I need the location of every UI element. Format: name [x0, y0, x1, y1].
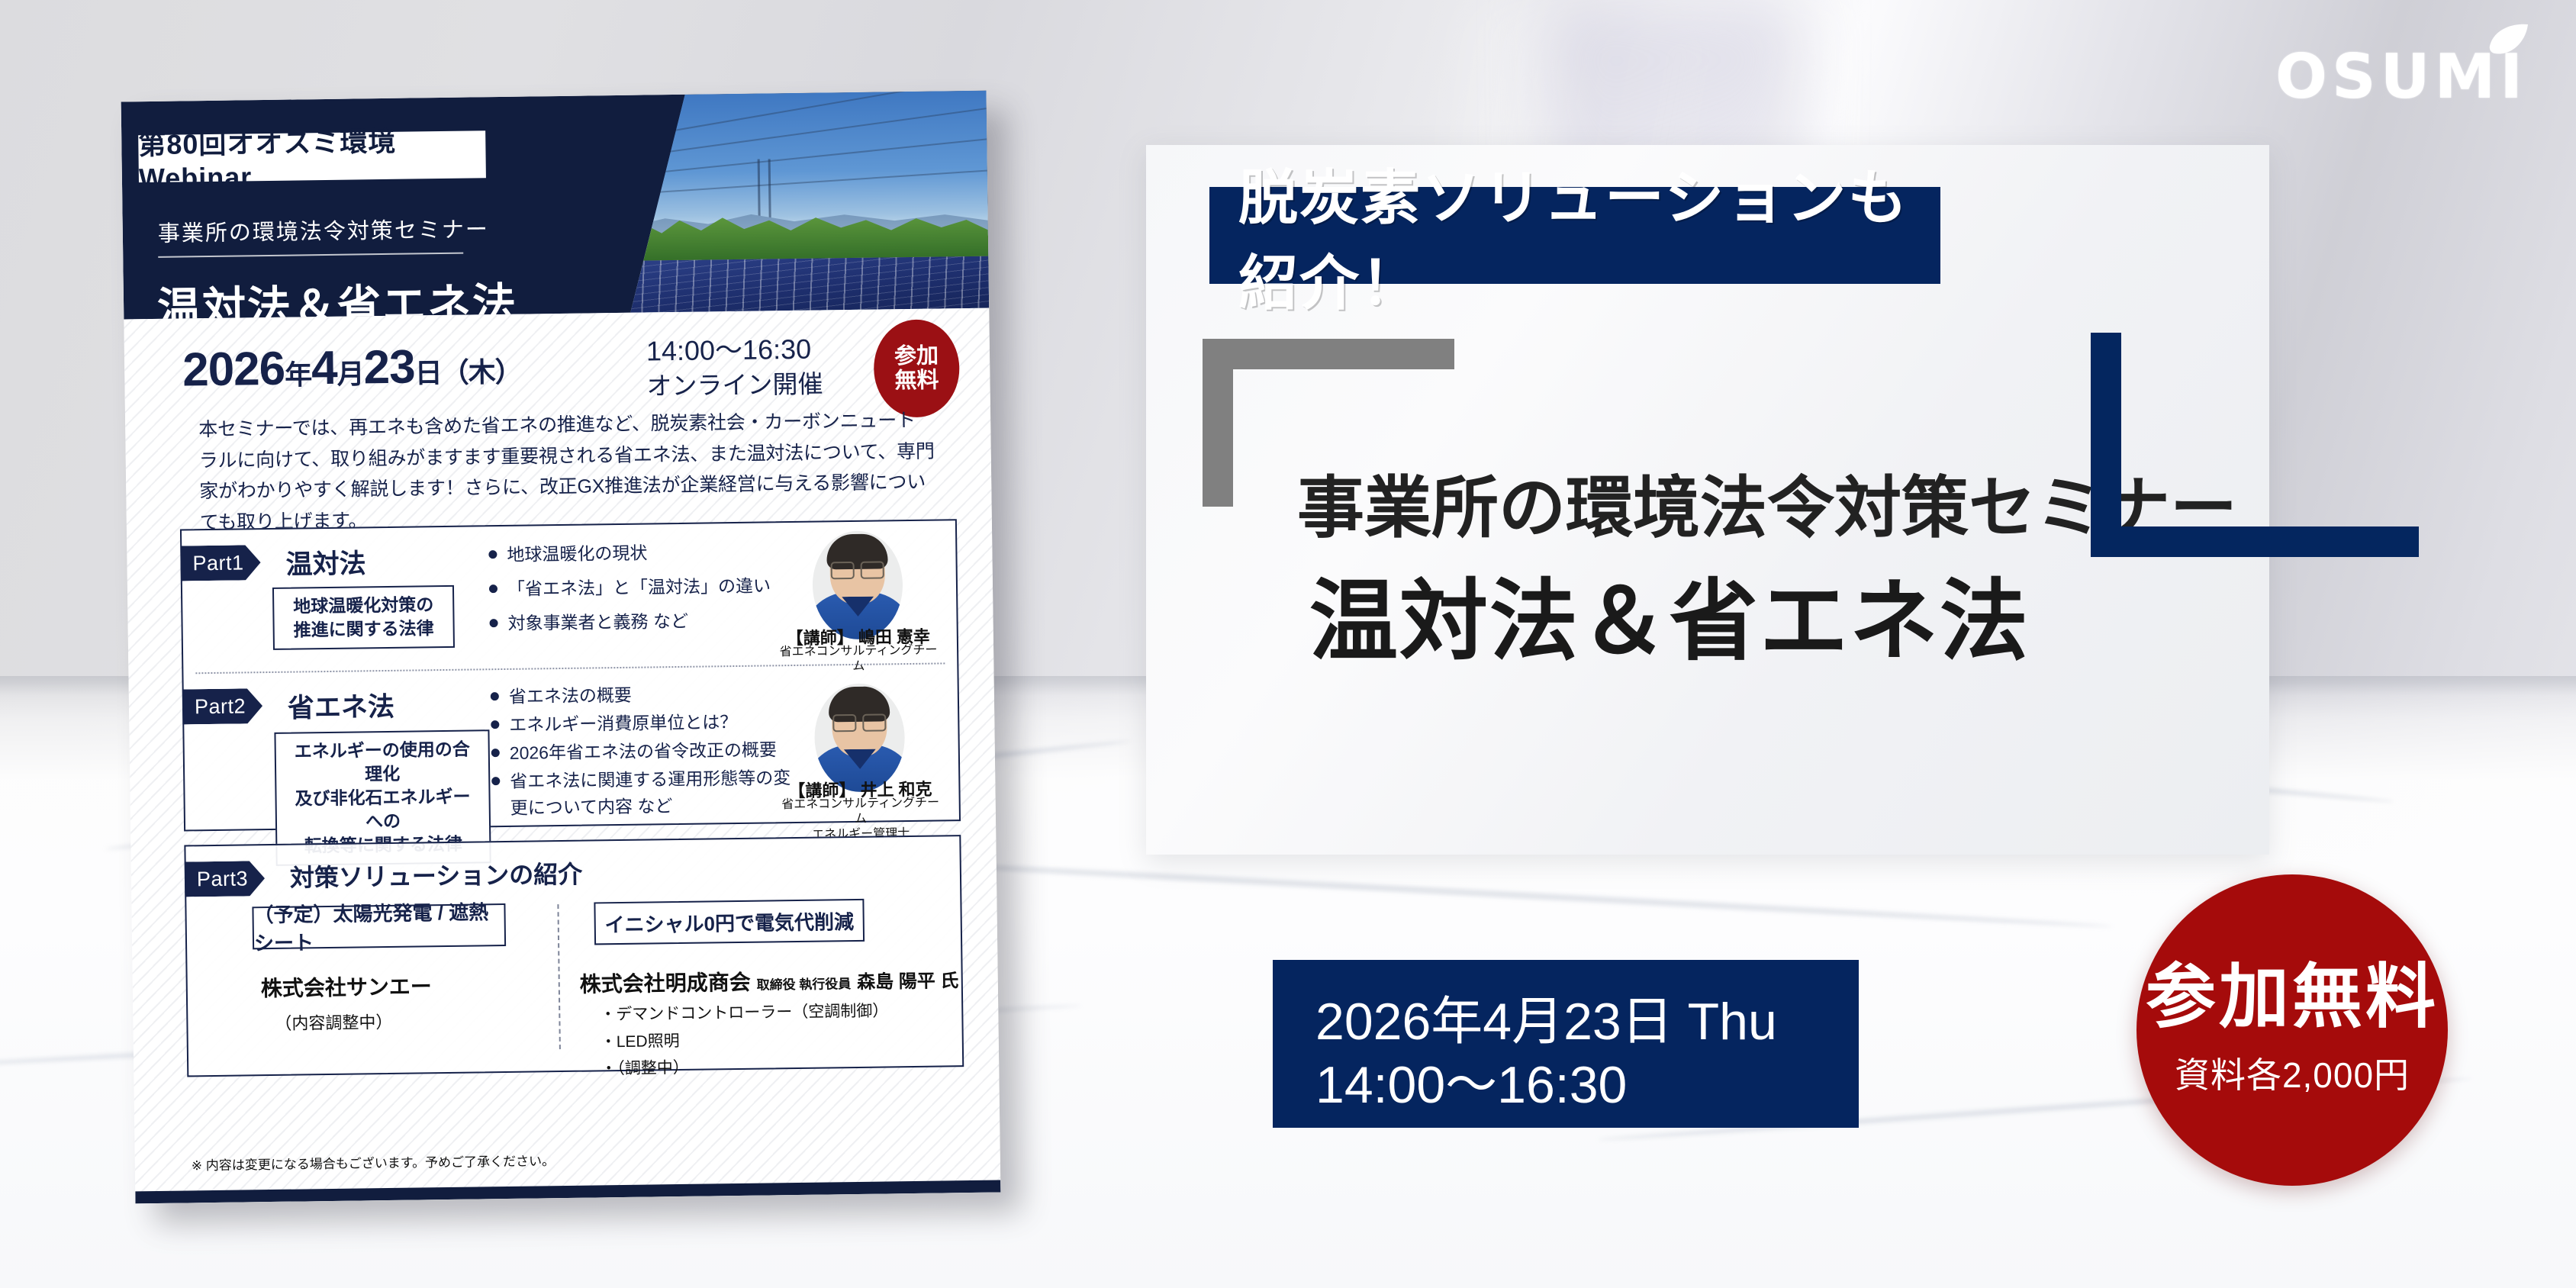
flyer-part3-card: Part3 対策ソリューションの紹介 （予定）太陽光発電 / 遮熱シート 株式会…: [184, 835, 964, 1077]
part3-item: （調整中）: [601, 1052, 889, 1084]
part3-item: デマンドコントローラー（空調制御）: [600, 997, 888, 1029]
speaker-glasses-icon: [832, 713, 886, 729]
part2-bullet: エネルギー消費原単位とは？: [489, 708, 794, 739]
flyer-parts-card: Part1 温対法 地球温暖化対策の 推進に関する法律 地球温暖化の現状 「省エ…: [180, 519, 961, 831]
date-year: 2026: [182, 343, 285, 397]
part3-right-person-name: 森島 陽平 氏: [857, 971, 959, 993]
part1-bullets: 地球温暖化の現状 「省エネ法」と「温対法」の違い 対象事業者と義務 など: [487, 538, 778, 645]
speaker-glasses-icon: [831, 561, 884, 577]
free-badge-line1: 参加: [894, 343, 939, 369]
seminar-flyer-card: 第80回オオスミ環境Webinar 事業所の環境法令対策セミナー 温対法＆省エネ…: [121, 91, 1001, 1204]
part2-heading: 省エネ法: [288, 685, 395, 726]
flyer-hero: 第80回オオスミ環境Webinar 事業所の環境法令対策セミナー 温対法＆省エネ…: [121, 91, 990, 320]
part3-left-box: （予定）太陽光発電 / 遮熱シート: [252, 903, 506, 949]
part1-heading: 温対法: [285, 542, 366, 581]
promo-ribbon-label: 脱炭素ソリューションも紹介！: [1238, 150, 1940, 321]
part2-bullet: 省エネ法の概要: [489, 680, 794, 710]
part3-right-company: 株式会社明成商会 取締役 執行役員 森島 陽平 氏: [580, 963, 959, 998]
part1-bullet: 「省エネ法」と「温対法」の違い: [488, 572, 778, 603]
part2-bullets: 省エネ法の概要 エネルギー消費原単位とは？ 2026年省エネ法の省令改正の概要 …: [489, 680, 796, 823]
part3-right-person-role: 取締役 執行役員: [756, 977, 851, 993]
promo-ribbon: 脱炭素ソリューションも紹介！: [1209, 187, 1940, 284]
photo-solar-panels: [630, 256, 989, 313]
flyer-free-badge: 参加 無料: [873, 319, 960, 417]
date-dow: （木）: [441, 356, 522, 388]
navy-bracket-vertical: [2091, 333, 2121, 557]
part3-right-items: デマンドコントローラー（空調制御） LED照明 （調整中）: [600, 997, 889, 1083]
date-day: 23: [363, 340, 415, 394]
flyer-subtitle: 事業所の環境法令対策セミナー: [158, 211, 490, 248]
part2-bullet: 省エネ法に関連する運用形態等の変更について内容 など: [490, 765, 796, 822]
flyer-rule: [158, 253, 463, 258]
flyer-footnote: ※ 内容は変更になる場合もございます。予めご了承ください。: [192, 1150, 555, 1174]
flyer-date: 2026年4月23日（木）: [182, 339, 522, 398]
part3-left-note: （内容調整中）: [275, 1009, 392, 1035]
part3-left-company: 株式会社サンエー: [261, 970, 433, 1003]
promo-free-label: 参加無料: [2146, 962, 2439, 1032]
date-day-unit: 日: [414, 357, 442, 388]
part3-right-company-name: 株式会社明成商会: [580, 971, 751, 997]
flyer-body: 2026年4月23日（木） 14:00～16:30 オンライン開催 参加 無料 …: [124, 308, 1000, 1204]
free-badge-line2: 無料: [894, 368, 939, 393]
part1-law-box: 地球温暖化対策の 推進に関する法律: [272, 585, 455, 650]
date-year-unit: 年: [285, 359, 312, 390]
date-month: 4: [311, 342, 337, 394]
part1-bullet: 地球温暖化の現状: [487, 538, 777, 568]
leaf-icon: [2487, 23, 2529, 55]
promo-material-fee: 資料各2,000円: [2175, 1048, 2410, 1098]
part3-heading: 対策ソリューションの紹介: [290, 855, 583, 894]
part2-bullet: 2026年省エネ法の省令改正の概要: [490, 736, 795, 767]
part1-speaker-role: 省エネコンサルティングチーム: [778, 643, 939, 676]
flyer-date-row: 2026年4月23日（木） 14:00～16:30 オンライン開催 参加 無料: [158, 322, 968, 406]
promo-free-badge: 参加無料 資料各2,000円: [2136, 874, 2448, 1186]
promo-title: 温対法＆省エネ法: [1309, 549, 2030, 678]
part1-tag: Part1: [180, 545, 261, 581]
promo-date-line1: 2026年4月23日 Thu: [1315, 990, 1859, 1054]
part2-tag: Part2: [182, 688, 263, 724]
flyer-format: オンライン開催: [646, 363, 823, 402]
flyer-title: 温対法＆省エネ法: [157, 269, 518, 320]
flyer-time: 14:00～16:30: [646, 327, 812, 369]
promo-date-line2: 14:00～16:30: [1315, 1054, 1859, 1117]
solar-farm-photo: [628, 91, 990, 313]
flyer-series-label: 第80回オオスミ環境Webinar: [138, 118, 486, 195]
part3-item: LED照明: [601, 1025, 889, 1056]
part1-bullet: 対象事業者と義務 など: [488, 607, 778, 637]
part3-tag: Part3: [185, 861, 266, 897]
date-month-unit: 月: [336, 358, 364, 389]
part3-right-box: イニシャル0円で電気代削減: [594, 899, 865, 945]
part3-divider: [557, 904, 560, 1049]
osumi-logo: OSUMI: [2268, 18, 2527, 102]
flyer-series-badge: 第80回オオスミ環境Webinar: [138, 130, 486, 182]
flyer-lead-paragraph: 本セミナーでは、再エネも含めた省エネの推進など、脱炭素社会・カーボンニュートラル…: [198, 405, 935, 539]
gray-bracket-vertical: [1203, 339, 1233, 507]
gray-bracket-horizontal: [1203, 339, 1454, 369]
navy-bracket-horizontal: [2121, 526, 2419, 557]
promo-date-box: 2026年4月23日 Thu 14:00～16:30: [1273, 960, 1859, 1128]
